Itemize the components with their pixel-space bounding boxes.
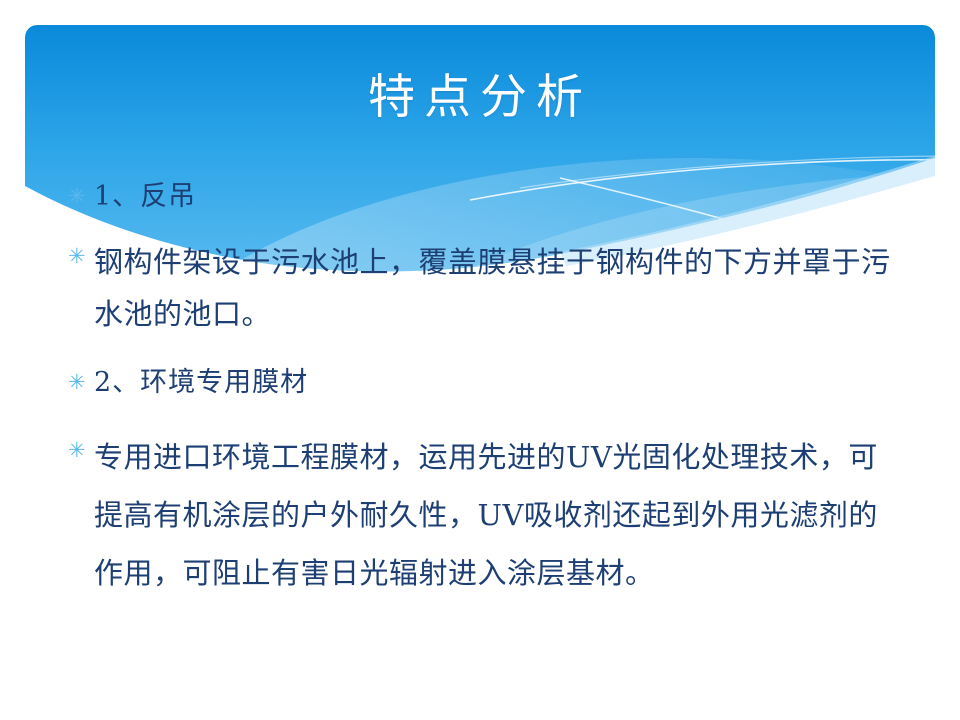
list-item-text: 2、环境专用膜材 [94,366,898,400]
slide-body-list: ✳ 1、反吊 ✳ 钢构件架设于污水池上，覆盖膜悬挂于钢构件的下方并罩于污水池的池… [68,180,898,602]
presentation-slide: 特点分析 ✳ 1、反吊 ✳ 钢构件架设于污水池上，覆盖膜悬挂于钢构件的下方并罩于… [0,0,960,720]
slide-title-text: 特点分析 [368,72,592,124]
list-item: ✳ 1、反吊 [68,180,898,214]
list-item-text: 专用进口环境工程膜材，运用先进的UV光固化处理技术，可提高有机涂层的户外耐久性，… [94,428,898,602]
asterisk-bullet-icon: ✳ [68,428,94,461]
list-item-text: 1、反吊 [94,180,898,214]
slide-title: 特点分析 [25,72,935,124]
list-item: ✳ 钢构件架设于污水池上，覆盖膜悬挂于钢构件的下方并罩于污水池的池口。 [68,236,898,340]
asterisk-bullet-icon: ✳ [68,236,94,267]
list-item-text: 钢构件架设于污水池上，覆盖膜悬挂于钢构件的下方并罩于污水池的池口。 [94,236,898,340]
asterisk-bullet-icon: ✳ [68,180,94,207]
asterisk-bullet-icon: ✳ [68,366,94,393]
list-item: ✳ 专用进口环境工程膜材，运用先进的UV光固化处理技术，可提高有机涂层的户外耐久… [68,428,898,602]
list-item: ✳ 2、环境专用膜材 [68,366,898,400]
